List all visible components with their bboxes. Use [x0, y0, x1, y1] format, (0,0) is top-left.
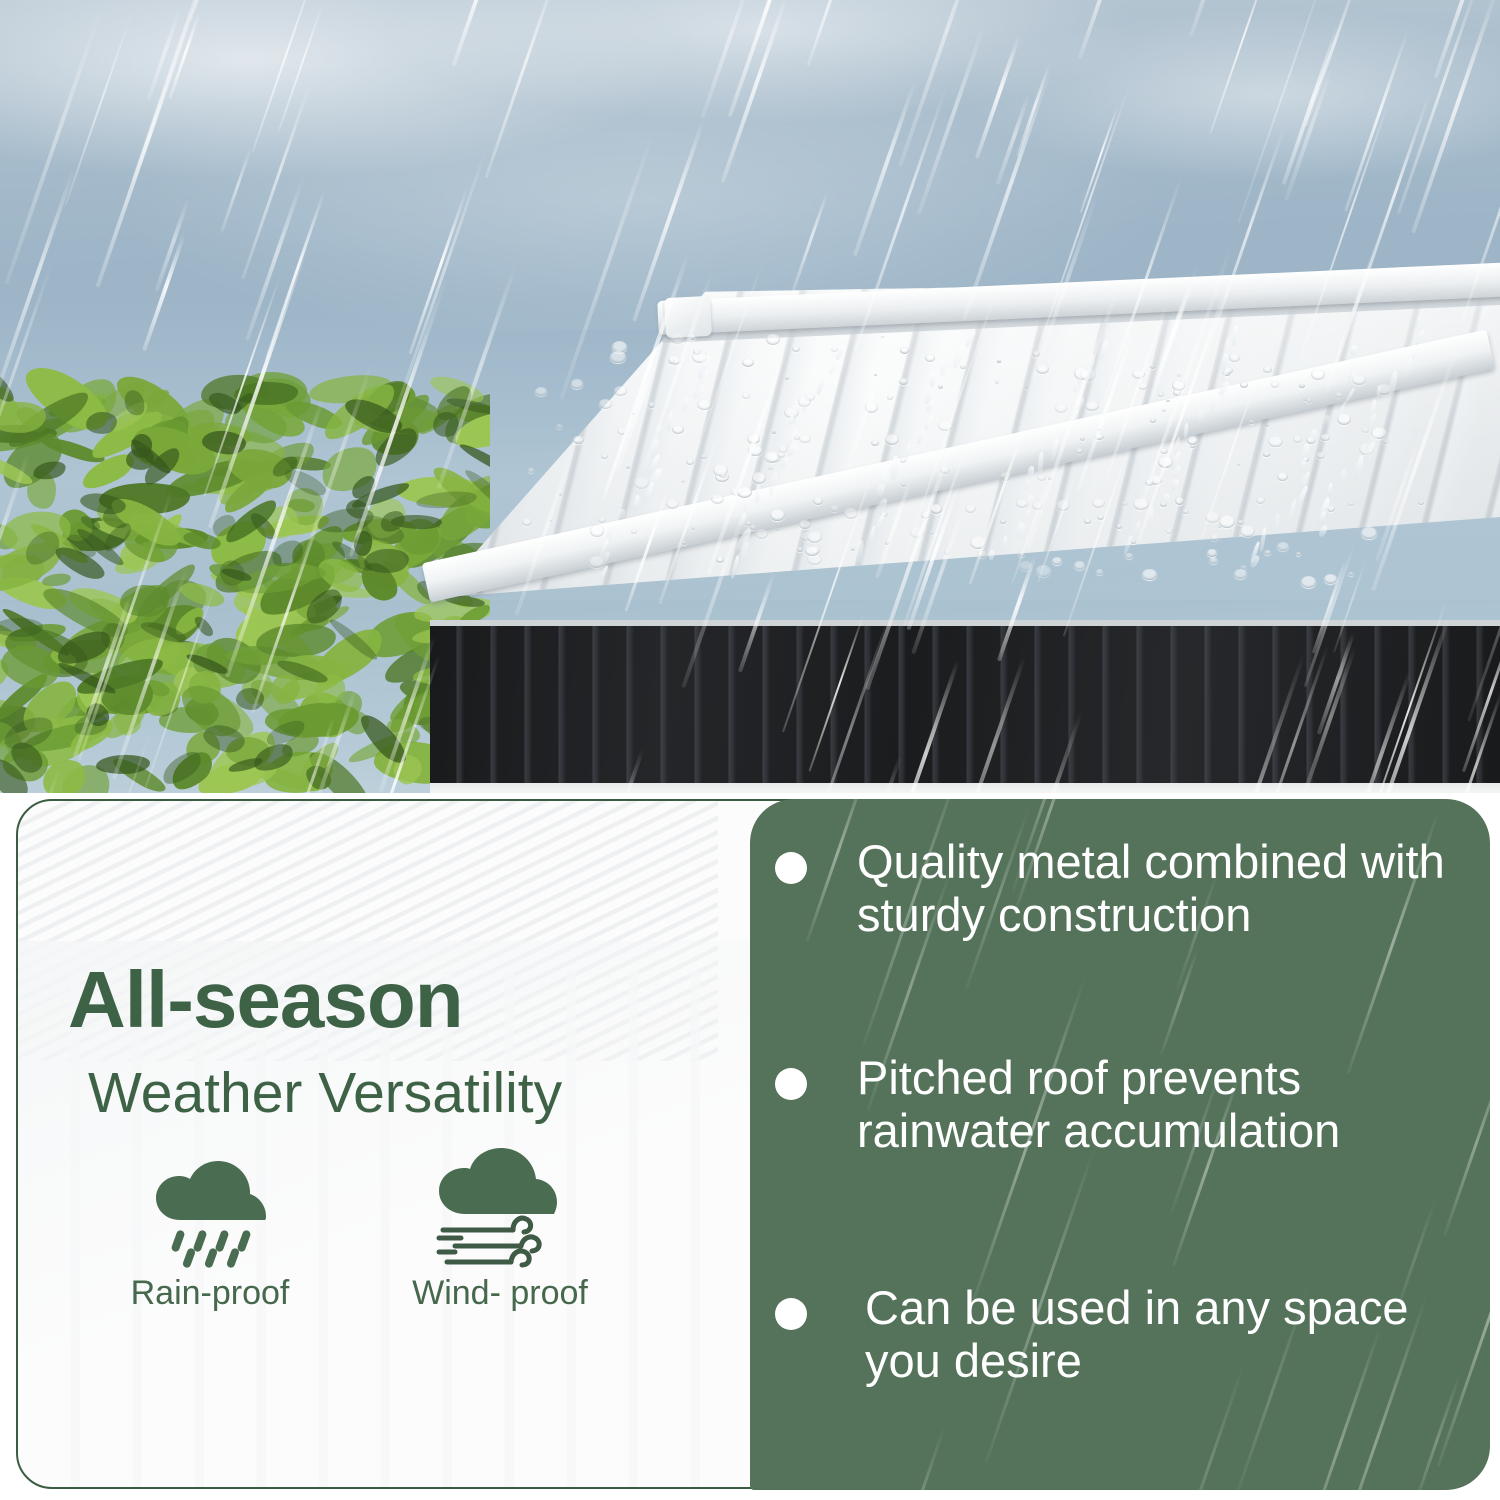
list-item: Quality metal combined with sturdy const… — [775, 836, 1467, 941]
bullet-text: Pitched roof prevents rainwater accumula… — [857, 1052, 1467, 1157]
feature-rain-proof: Rain-proof — [80, 1160, 340, 1313]
page-title: All-season — [68, 960, 463, 1040]
shed-wall — [430, 620, 1500, 795]
feature-label: Wind- proof — [370, 1274, 630, 1313]
bullet-text: Can be used in any space you desire — [865, 1282, 1475, 1387]
roof-corner-cap — [664, 296, 712, 338]
bullet-dot-icon — [775, 852, 807, 884]
list-item: Pitched roof prevents rainwater accumula… — [775, 1052, 1467, 1157]
wall-corrugation — [430, 620, 1500, 795]
bullet-text: Quality metal combined with sturdy const… — [857, 836, 1467, 941]
bullet-dot-icon — [775, 1298, 807, 1330]
product-feature-banner: All-season Weather Versatility — [0, 0, 1500, 1500]
wall-top-trim — [430, 620, 1500, 626]
weather-feature-row: Rain-proof Win — [60, 1160, 700, 1320]
list-item: Can be used in any space you desire — [775, 1282, 1475, 1387]
rain-cloud-icon — [80, 1160, 340, 1270]
page-subtitle: Weather Versatility — [88, 1065, 562, 1122]
wind-cloud-icon — [370, 1160, 630, 1270]
product-photo — [0, 0, 1500, 795]
feature-wind-proof: Wind- proof — [370, 1160, 630, 1313]
feature-label: Rain-proof — [80, 1274, 340, 1313]
bullet-dot-icon — [775, 1068, 807, 1100]
shed-roof — [400, 285, 1500, 645]
